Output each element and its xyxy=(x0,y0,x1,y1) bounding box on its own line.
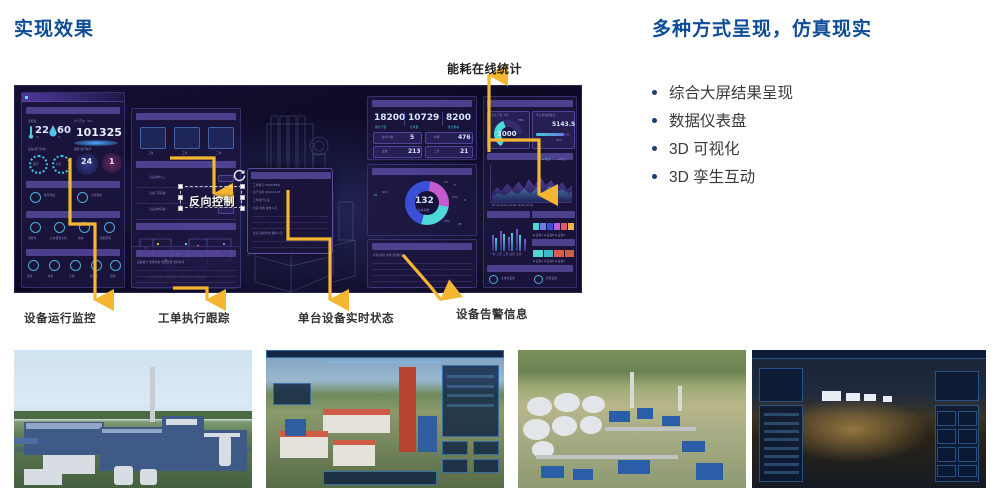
count-running: 24 xyxy=(81,157,92,166)
bullet-dot-icon xyxy=(652,90,657,95)
stack-2-legend: ■ 设备A ■ 设备B ■ 设备C xyxy=(533,259,565,263)
fire-device-3-label: 喷淋 xyxy=(78,236,84,240)
panel-inspection-donut[interactable]: 132 总事项数 60% 83 5% 5 10% 9 25% 35 xyxy=(367,164,477,236)
scene-daylight-plant xyxy=(14,350,252,488)
panel-title-inspection xyxy=(372,168,472,175)
kpi-orders-label: 订单量 xyxy=(410,125,418,129)
tile-vehicle-value: 476 xyxy=(458,134,471,141)
list-item: 数据仪表盘 xyxy=(652,106,793,134)
tile-vehicle-label: 车辆 xyxy=(434,135,440,139)
alarm-row[interactable] xyxy=(372,272,472,276)
interior-topbar xyxy=(752,350,986,359)
popup-table-row[interactable] xyxy=(252,244,328,248)
popup-field-3: 工单执行记录 xyxy=(253,198,270,202)
section-header-key-devices xyxy=(487,265,573,272)
todo-row-3-label: 自动巡检系统 xyxy=(149,207,166,211)
status-ring-label-b: 停机 xyxy=(56,162,62,166)
dashboard-screenshot: 温度值 大气压力（Pa） 22 60 101325 ℃ % 设备/阀门状态 报警… xyxy=(14,85,582,293)
gallery-image-night-interior[interactable] xyxy=(752,350,986,488)
section-header-zone-bars xyxy=(487,211,530,218)
table-row[interactable] xyxy=(136,285,236,289)
alarm-row[interactable] xyxy=(372,284,472,288)
selection-handle-br[interactable] xyxy=(240,206,245,211)
refinery-stack-2 xyxy=(678,386,683,411)
bar-zone-4-today xyxy=(516,229,518,251)
list-item-label: 综合大屏结果呈现 xyxy=(669,81,793,103)
selection-handle-bl[interactable] xyxy=(178,206,183,211)
donut-value-35: 35 xyxy=(458,223,461,226)
alarm-row[interactable] xyxy=(372,266,472,270)
twin-panel-kpi-4 xyxy=(473,459,499,473)
panel-title-energy xyxy=(487,100,573,107)
twin-panel-left xyxy=(273,383,311,405)
section-header-device-energy-2 xyxy=(532,239,575,246)
hvac-device-4[interactable] xyxy=(91,260,102,271)
panel-alarm-table[interactable]: 时间 级别 内容 处理状态 xyxy=(367,239,477,288)
kpi-output-label: 累计产量 xyxy=(375,125,386,129)
twin-panel-kpi-2 xyxy=(473,441,499,455)
annotation-device-monitoring: 设备运行监控 xyxy=(24,310,96,326)
chart-zone-bars[interactable] xyxy=(490,225,528,251)
progress-percent: 81% xyxy=(556,139,562,142)
twin-panel-kpi-1 xyxy=(442,441,468,455)
panel-title-maintenance xyxy=(136,250,236,257)
popup-title xyxy=(251,172,331,179)
refinery-stack-1 xyxy=(630,372,635,408)
fire-device-1-label: 消防泵 xyxy=(28,236,36,240)
shared-device-a-label: 循环泵组 xyxy=(44,193,55,197)
stack-1-legend: ■ 设备A ■ 设备B ■ 设备C xyxy=(533,233,565,237)
status-ring-label-a: 运行 xyxy=(33,162,39,166)
kpi-energy-label: 累计能耗 xyxy=(448,125,459,129)
progress-track[interactable] xyxy=(536,133,570,136)
order-card-2-label: 工单 xyxy=(182,151,188,155)
bar-zone-3-today xyxy=(508,237,510,251)
section-header-device-energy-1 xyxy=(532,211,575,218)
value-pressure: 101325 xyxy=(76,126,122,139)
panel-title-stats xyxy=(372,100,472,107)
alarm-table-header: 时间 级别 内容 处理状态 xyxy=(373,253,404,257)
feature-list: 综合大屏结果呈现 数据仪表盘 3D 可视化 3D 孪生互动 xyxy=(652,78,793,190)
section-header-fire xyxy=(26,211,120,218)
hvac-device-2[interactable] xyxy=(49,260,60,271)
interior-grid-cell-1 xyxy=(937,411,956,426)
section-header-shared xyxy=(26,181,120,188)
gauge-value: 3000 xyxy=(497,130,516,138)
chart-xaxis: 10:00 12:00 14:00 16:00 18:00 xyxy=(492,204,533,207)
pressure-glow xyxy=(74,140,118,146)
unit-temperature: ℃ xyxy=(36,136,39,139)
donut-label-60: 60% xyxy=(382,191,388,194)
popup-table-row[interactable] xyxy=(252,250,328,254)
chart-legend-today: ● 今日 xyxy=(542,157,550,161)
label-pressure: 大气压力（Pa） xyxy=(74,119,94,123)
gallery-image-plant-render[interactable] xyxy=(14,350,252,488)
label-temperature: 温度值 xyxy=(28,119,36,123)
donut-value-5: 5 xyxy=(454,184,456,187)
twin-topbar xyxy=(266,350,504,358)
count-stopped: 1 xyxy=(109,157,115,166)
annotation-device-realtime: 单台设备实时状态 xyxy=(298,310,394,326)
table-row[interactable] xyxy=(136,279,236,283)
hvac-device-1-label: 送风 xyxy=(27,274,33,278)
thermometer-icon xyxy=(28,125,34,139)
section-header-todo xyxy=(136,161,236,168)
chart-power-trend[interactable] xyxy=(490,165,572,203)
interior-grid-cell-3 xyxy=(937,429,956,444)
list-item: 3D 可视化 xyxy=(652,134,793,162)
scene-refinery-aerial xyxy=(518,350,746,488)
list-item-label: 3D 孪生互动 xyxy=(669,165,755,187)
hvac-device-1[interactable] xyxy=(28,260,39,271)
unit-humidity: % xyxy=(58,136,61,139)
label-valve-status: 设备/阀门状态 xyxy=(28,147,46,151)
progress-fill xyxy=(536,133,564,136)
bullet-dot-icon xyxy=(652,146,657,151)
tile-device-label: 设备 xyxy=(382,149,388,153)
kpi-output-value: 18200 xyxy=(374,113,405,123)
stack-device-energy-2[interactable] xyxy=(533,250,574,257)
bar-zone-1-yesterday xyxy=(495,238,497,251)
popup-order-detail[interactable]: 工单编号 ZS4578892 生产日期 2022-04-18 工单执行记录 时间… xyxy=(247,168,333,254)
fire-device-3[interactable] xyxy=(79,222,90,233)
popup-table-row[interactable] xyxy=(252,219,328,223)
stack-device-energy-1[interactable] xyxy=(533,223,574,230)
kpi-energy-value: 8200 xyxy=(446,113,471,123)
donut-center-value: 132 xyxy=(415,196,434,206)
smokestack-icon xyxy=(150,367,155,422)
alarm-row[interactable] xyxy=(372,278,472,282)
progress-value: 5143.5 xyxy=(552,121,575,128)
gauge-title: 今日产量（吨） xyxy=(491,113,511,117)
interior-grid-cell-8 xyxy=(958,465,977,477)
tile-tool-value: 21 xyxy=(460,148,468,155)
popup-table-row[interactable] xyxy=(252,225,328,229)
donut-value-83: 83 xyxy=(374,194,377,197)
twin-bottom-toolbar xyxy=(323,471,437,485)
hvac-device-2-label: 排风 xyxy=(48,274,54,278)
panel-title-work-orders xyxy=(136,113,236,120)
list-item: 综合大屏结果呈现 xyxy=(652,78,793,106)
interior-grid-cell-7 xyxy=(937,465,956,477)
list-item-label: 3D 可视化 xyxy=(669,137,740,159)
donut-label-25pct: 25% xyxy=(444,220,450,223)
tile-tool-label: 工具 xyxy=(434,149,440,153)
panel-overview-stats[interactable]: 18200 10729 8200 累计产量 订单量 累计能耗 在岗人数 车辆 设… xyxy=(367,96,477,160)
annotation-device-alarm: 设备告警信息 xyxy=(456,306,528,322)
donut-label-10pct: 10% xyxy=(452,196,458,199)
selection-handle-ml[interactable] xyxy=(178,195,183,200)
hvac-device-4-label: 除湿机 xyxy=(90,274,98,278)
order-card-1-label: 工单 xyxy=(148,151,154,155)
tile-staff-value: 5 xyxy=(410,134,414,141)
selection-handle-tl[interactable] xyxy=(178,184,183,189)
zone-bars-xaxis: 一区 二区 三区 四区 五区 xyxy=(490,252,522,256)
bar-zone-5-today xyxy=(524,239,526,251)
popup-table-row[interactable] xyxy=(252,213,328,217)
popup-table-row[interactable] xyxy=(252,238,328,242)
tile-staff-label: 在岗人数 xyxy=(382,135,393,139)
gauge-percent: 75% xyxy=(518,119,524,122)
popup-field-2: 生产日期 2022-04-18 xyxy=(253,190,280,194)
panel-energy-analysis[interactable]: 今日产量（吨） 3000 75% 今日用电量统计 5143.5 81% ● 今日… xyxy=(483,96,577,288)
page-title-left: 实现效果 xyxy=(14,14,94,41)
tile-device-value: 213 xyxy=(408,148,421,155)
order-card-3[interactable] xyxy=(208,127,234,149)
hvac-device-5-label: 照明 xyxy=(110,274,116,278)
shared-device-b-label: 冷却塔组 xyxy=(91,193,102,197)
gallery-image-refinery-aerial[interactable] xyxy=(518,350,746,488)
order-card-3-label: 工单 xyxy=(216,151,222,155)
section-header-hvac xyxy=(26,249,120,256)
tile-staff[interactable] xyxy=(373,132,422,144)
selection-handle-mr[interactable] xyxy=(240,195,245,200)
list-item: 3D 孪生互动 xyxy=(652,162,793,190)
todo-row-2-label: 自动厂区系统 xyxy=(149,191,166,195)
value-temperature: 22 xyxy=(35,125,49,136)
bullet-dot-icon xyxy=(652,174,657,179)
key-device-1[interactable] xyxy=(489,275,498,284)
panel-device-maintenance-table[interactable]: 设备编号 维修状态 维修结果 更新时间 xyxy=(131,246,241,288)
popup-table-header-2: 时间 运维状态 操作人员 xyxy=(253,231,283,235)
interior-grid-cell-6 xyxy=(958,447,977,462)
annotation-order-tracking: 工单执行跟踪 xyxy=(158,310,230,326)
donut-value-9: 9 xyxy=(464,199,466,202)
panel-equipment-overview[interactable]: 温度值 大气压力（Pa） 22 60 101325 ℃ % 设备/阀门状态 报警… xyxy=(21,92,125,288)
fire-device-4-label: 排烟风机 xyxy=(100,236,111,240)
kpi-orders-value: 10729 xyxy=(408,113,439,123)
alarm-row[interactable] xyxy=(372,260,472,264)
key-device-2[interactable] xyxy=(534,275,543,284)
humidity-drop-icon xyxy=(49,125,57,137)
popup-field-1: 工单编号 ZS4578892 xyxy=(253,183,280,187)
twin-tower xyxy=(399,367,416,453)
interior-panel-radar xyxy=(935,371,979,401)
interior-grid-cell-5 xyxy=(937,447,956,462)
panel-title-alarm xyxy=(372,243,472,250)
page-title-right: 多种方式呈现，仿真现实 xyxy=(652,14,872,41)
table-row[interactable] xyxy=(136,273,236,277)
todo-row-1-label: 自动巡检A口 xyxy=(149,175,165,179)
fire-device-1[interactable] xyxy=(30,222,41,233)
twin-panel-kpi-3 xyxy=(442,459,468,473)
key-device-2-label: 风机设备 xyxy=(546,276,557,280)
label-run-stats: 报警/运行统计 xyxy=(74,147,92,151)
order-card-2[interactable] xyxy=(174,127,200,149)
hvac-device-3-label: 空调 xyxy=(69,274,75,278)
progress-title: 今日用电量统计 xyxy=(536,113,556,117)
interior-grid-cell-4 xyxy=(958,429,977,444)
fire-device-2[interactable] xyxy=(54,222,65,233)
panel-title-bar xyxy=(22,93,124,102)
bar-zone-2-yesterday xyxy=(503,234,505,251)
shared-device-b[interactable] xyxy=(77,192,88,203)
gallery-image-digital-twin[interactable] xyxy=(266,350,504,488)
bar-zone-4-yesterday xyxy=(519,235,521,251)
popup-table-header: 时间 状态 操作人员 xyxy=(253,206,277,210)
donut-label-5pct: 5% xyxy=(444,181,448,184)
shared-device-a[interactable] xyxy=(30,192,41,203)
refresh-icon[interactable] xyxy=(232,168,247,183)
selection-handle-tr[interactable] xyxy=(240,184,245,189)
table-header: 设备编号 维修状态 维修结果 更新时间 xyxy=(137,260,184,264)
callout-reverse-control: 反向控制 xyxy=(189,193,235,209)
interior-grid-cell-2 xyxy=(958,411,977,426)
fire-device-4[interactable] xyxy=(104,222,115,233)
scene-digital-twin-hud xyxy=(266,350,504,488)
chart-legend-yesterday: ● 昨日 xyxy=(558,157,566,161)
table-row[interactable] xyxy=(136,267,236,271)
donut-center-label: 总事项数 xyxy=(418,208,429,212)
hvac-device-3[interactable] xyxy=(70,260,81,271)
section-header-env xyxy=(26,107,120,114)
value-humidity: 60 xyxy=(57,125,71,136)
section-header-device-map xyxy=(136,223,236,230)
order-card-1[interactable] xyxy=(140,127,166,149)
bar-zone-1-today xyxy=(492,235,494,251)
key-device-1-label: 主电机设备 xyxy=(501,276,515,280)
fire-device-2-label: 火灾报警主机 xyxy=(50,236,67,240)
hvac-device-5[interactable] xyxy=(110,260,121,271)
bullet-dot-icon xyxy=(652,118,657,123)
bar-zone-2-today xyxy=(500,231,502,251)
list-item-label: 数据仪表盘 xyxy=(669,109,747,131)
interior-panel-topleft xyxy=(759,368,803,403)
callout-energy-statistics: 能耗在线统计 xyxy=(447,60,522,77)
scene-night-interior-ui xyxy=(752,350,986,488)
bar-zone-3-yesterday xyxy=(511,233,513,251)
